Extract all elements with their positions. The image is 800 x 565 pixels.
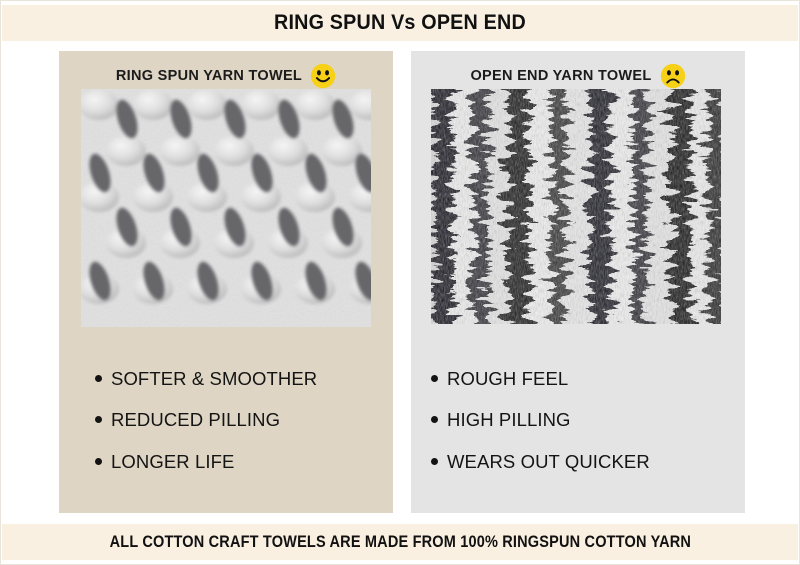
panel-open-end-header: OPEN END YARN TOWEL xyxy=(411,61,745,91)
list-item: HIGH PILLING xyxy=(431,410,765,429)
panel-open-end: OPEN END YARN TOWEL xyxy=(411,51,745,513)
bullet-label: LONGER LIFE xyxy=(111,452,234,471)
list-item: SOFTER & SMOOTHER xyxy=(95,369,429,388)
bullet-dot-icon xyxy=(431,458,438,465)
bullet-dot-icon xyxy=(95,458,102,465)
bullet-dot-icon xyxy=(431,375,438,382)
list-item: WEARS OUT QUICKER xyxy=(431,452,765,471)
infographic-root: RING SPUN Vs OPEN END RING SPUN YARN TOW… xyxy=(0,0,800,565)
open-end-drawbacks-list: ROUGH FEEL HIGH PILLING WEARS OUT QUICKE… xyxy=(411,369,765,493)
panel-ring-spun-title: RING SPUN YARN TOWEL xyxy=(116,68,302,84)
panel-ring-spun: RING SPUN YARN TOWEL xyxy=(59,51,393,513)
footer-message: ALL COTTON CRAFT TOWELS ARE MADE FROM 10… xyxy=(109,533,690,552)
footer-banner: ALL COTTON CRAFT TOWELS ARE MADE FROM 10… xyxy=(2,524,798,560)
smiley-sad-icon xyxy=(660,63,686,89)
list-item: REDUCED PILLING xyxy=(95,410,429,429)
panel-ring-spun-header: RING SPUN YARN TOWEL xyxy=(59,61,393,91)
panel-open-end-title: OPEN END YARN TOWEL xyxy=(470,68,651,84)
open-end-towel-image xyxy=(431,89,721,324)
bullet-label: WEARS OUT QUICKER xyxy=(447,452,650,471)
bullet-label: SOFTER & SMOOTHER xyxy=(111,369,317,388)
bullet-dot-icon xyxy=(95,375,102,382)
title-banner: RING SPUN Vs OPEN END xyxy=(2,5,798,41)
bullet-label: ROUGH FEEL xyxy=(447,369,568,388)
bullet-label: REDUCED PILLING xyxy=(111,410,280,429)
page-title: RING SPUN Vs OPEN END xyxy=(274,11,526,35)
ring-spun-towel-image xyxy=(81,89,371,327)
bullet-dot-icon xyxy=(431,416,438,423)
list-item: ROUGH FEEL xyxy=(431,369,765,388)
bullet-label: HIGH PILLING xyxy=(447,410,571,429)
ring-spun-benefits-list: SOFTER & SMOOTHER REDUCED PILLING LONGER… xyxy=(59,369,429,493)
list-item: LONGER LIFE xyxy=(95,452,429,471)
smiley-happy-icon xyxy=(310,63,336,89)
bullet-dot-icon xyxy=(95,416,102,423)
